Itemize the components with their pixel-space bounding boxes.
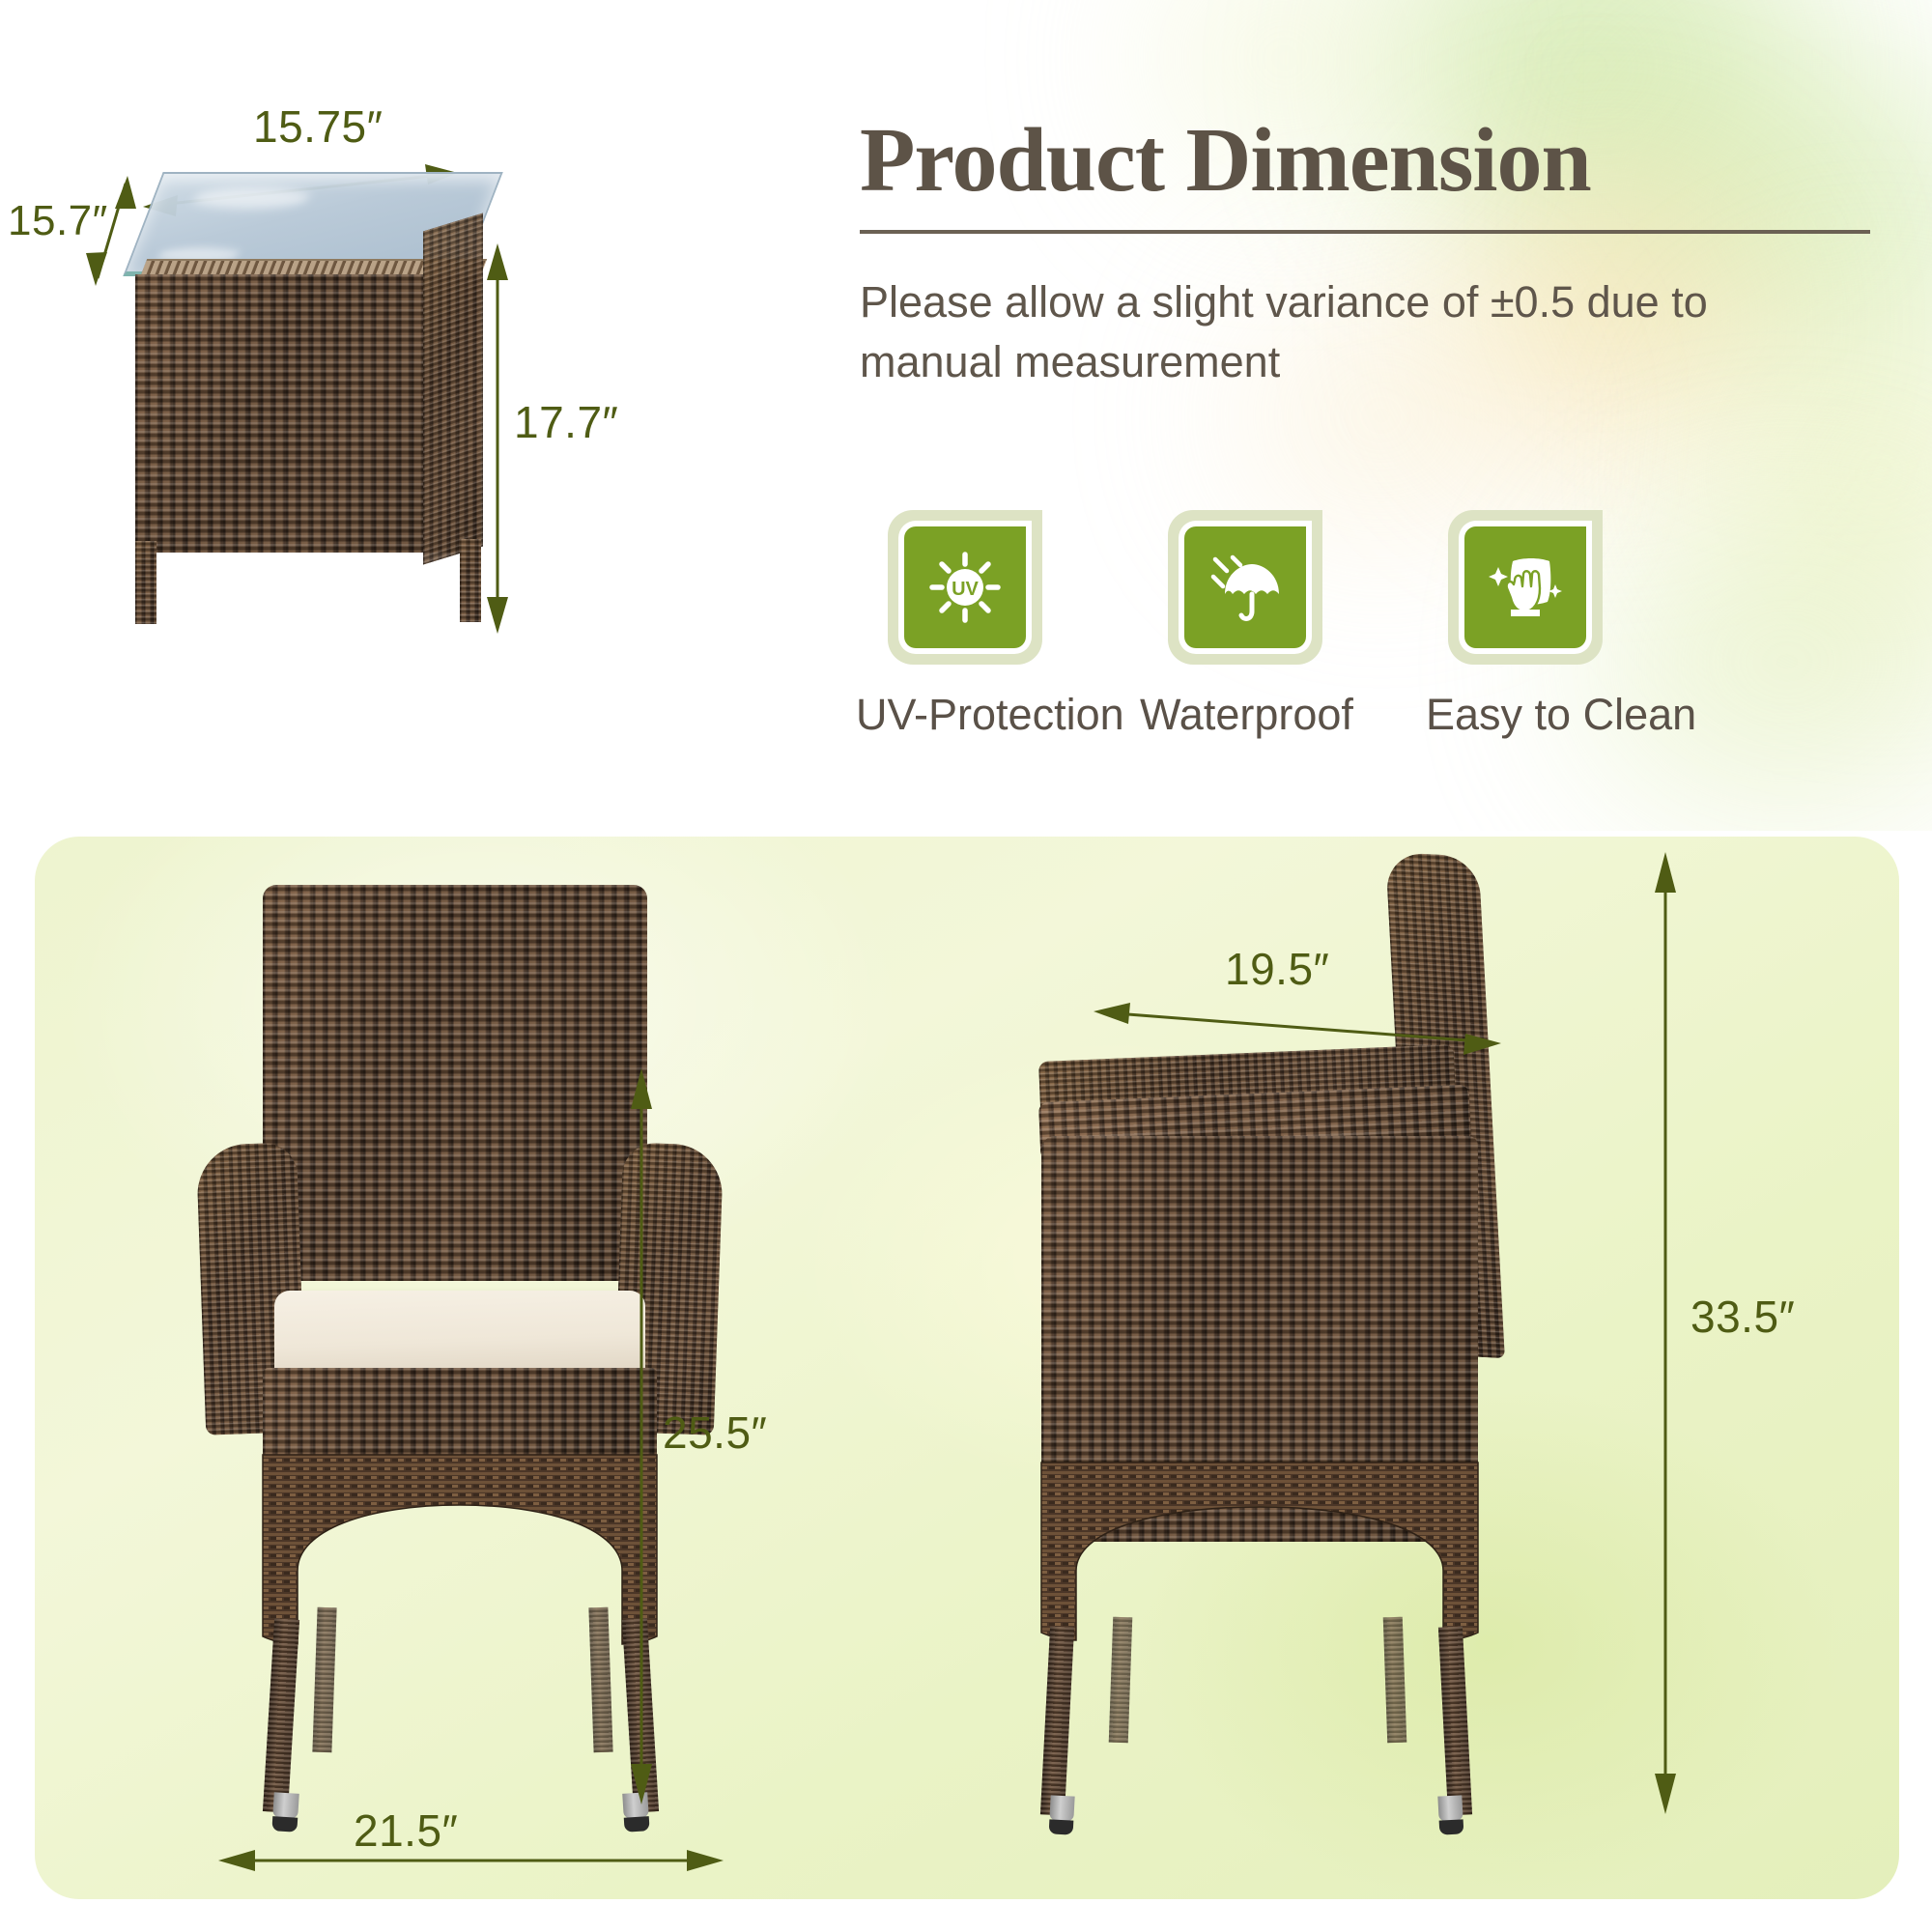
title-divider — [860, 230, 1870, 234]
page-title: Product Dimension — [860, 114, 1884, 209]
feature-label: UV-Protection — [856, 690, 1070, 740]
feature-waterproof: Waterproof — [1140, 510, 1350, 740]
feature-uv-protection: UV UV-Protection — [860, 510, 1070, 740]
side-table-figure: 15.75″ 15.7″ 17.7″ — [0, 0, 850, 831]
feature-label: Waterproof — [1140, 690, 1350, 740]
badge-core — [1184, 526, 1306, 648]
svg-text:UV: UV — [952, 579, 979, 600]
badge-core: UV — [904, 526, 1026, 648]
hand-wipe-sparkle-icon — [1484, 546, 1567, 629]
feature-label: Easy to Clean — [1426, 690, 1631, 740]
badge-inner-border — [1179, 521, 1312, 654]
badge-frame — [1168, 510, 1322, 665]
badge-frame: UV — [888, 510, 1042, 665]
umbrella-rain-icon — [1204, 546, 1287, 629]
badge-frame — [1448, 510, 1603, 665]
badge-inner-border — [1459, 521, 1592, 654]
chair-total-height-arrow — [35, 837, 1899, 1899]
badge-inner-border: UV — [898, 521, 1032, 654]
feature-easy-to-clean: Easy to Clean — [1420, 510, 1631, 740]
table-height-arrow — [0, 0, 850, 831]
uv-sun-icon: UV — [924, 547, 1006, 628]
info-panel: Product Dimension Please allow a slight … — [860, 114, 1884, 392]
feature-list: UV UV-Protection — [860, 510, 1884, 740]
chairs-panel: 25.5″ 21.5″ — [35, 837, 1899, 1899]
measurement-note: Please allow a slight variance of ±0.5 d… — [860, 272, 1835, 392]
badge-core — [1464, 526, 1586, 648]
